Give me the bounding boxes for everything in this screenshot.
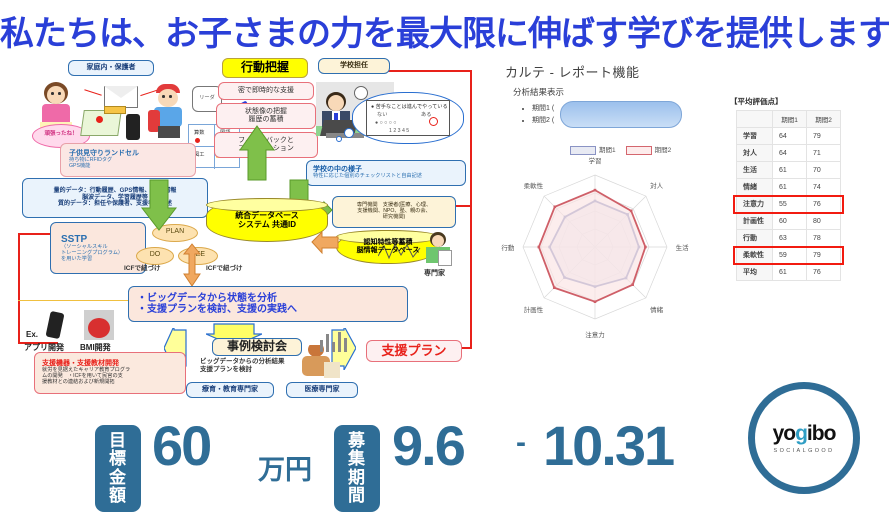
radar-chart: 学習対人生活情緒注意力計画性行動柔軟性: [500, 155, 690, 345]
row-label: 注意力: [737, 196, 773, 213]
radar-axis-label: 注意力: [585, 329, 605, 339]
radar-axis-label: 計画性: [524, 304, 544, 314]
legend-entry-period2: 期間2: [626, 144, 672, 155]
row-period1: 64: [773, 145, 807, 162]
yogibo-logo: yogibo SOCIALGOOD: [748, 382, 860, 494]
row-period2: 76: [807, 196, 841, 213]
row-label: 対人: [737, 145, 773, 162]
row-period1: 59: [773, 247, 807, 264]
table-row: 情緒6174: [737, 179, 841, 196]
table-row: 学習6479: [737, 128, 841, 145]
legend-label-period2: 期間2: [655, 147, 672, 154]
period-end: 10.31: [543, 418, 673, 474]
radar-axis-label: 柔軟性: [524, 180, 544, 190]
radar-axis-label: 対人: [650, 180, 663, 190]
db-center-line2: システム 共通ID: [235, 220, 299, 229]
specialist-illustration: [424, 232, 452, 270]
radar-axis-label: 行動: [501, 242, 514, 252]
icf-label-left: ICFで紐づけ: [124, 262, 160, 272]
row-period2: 78: [807, 230, 841, 247]
db-center-line1: 統合データベース: [235, 211, 299, 220]
table-header-blank: [737, 111, 773, 128]
db-brain-line2: 脳情報データベース: [357, 247, 420, 255]
support-plan-box: 支援プラン: [366, 340, 462, 362]
rfid-tag-icon: [104, 106, 126, 114]
legend-entry-period1: 期間1: [570, 144, 616, 155]
slide-canvas: 私たちは、お子さまの力を最大限に伸ばす学びを提供します！ 家庭内・保護者 頑張っ…: [0, 0, 889, 500]
case-meeting-line2: 支援プランを検討: [200, 366, 285, 374]
table-row: 注意力5576: [737, 196, 841, 213]
row-period2: 79: [807, 128, 841, 145]
row-period1: 64: [773, 128, 807, 145]
page-title: 私たちは、お子さまの力を最大限に伸ばす学びを提供します！: [0, 6, 889, 55]
table-header-row: 期間1 期間2: [737, 111, 841, 128]
home-guardian-label: 家庭内・保護者: [68, 60, 154, 76]
row-label: 学習: [737, 128, 773, 145]
goal-amount-value: 60: [152, 418, 210, 474]
bigdata-line2: ・支援プランを検討、支援の実践へ: [137, 304, 297, 315]
period-dash: -: [516, 426, 526, 460]
green-arrow-up: [238, 120, 288, 190]
row-period1: 55: [773, 196, 807, 213]
row-period2: 74: [807, 179, 841, 196]
period-start: 9.6: [392, 418, 464, 474]
legend-label-period1: 期間1: [599, 147, 616, 154]
app-phone-icon: [45, 311, 64, 339]
chart-legend: 期間1 期間2: [570, 144, 671, 155]
table-row: 生活6170: [737, 162, 841, 179]
case-meeting-detail: ビッグデータからの分析結果 支援プランを検討: [200, 358, 285, 375]
row-label: 行動: [737, 230, 773, 247]
specialist-education-chip: 療育・教育専門家: [186, 382, 274, 398]
bigdata-line1: ・ビッグデータから状態を分析: [137, 293, 277, 304]
smartphone-icon: [126, 114, 140, 140]
ex-label: Ex.: [26, 330, 38, 339]
map-pin: [96, 116, 103, 123]
row-label: 柔軟性: [737, 247, 773, 264]
report-bullet-1: 期間2 (: [532, 115, 554, 125]
row-period2: 76: [807, 264, 841, 281]
logo-tagline: SOCIALGOOD: [774, 448, 835, 454]
report-link-line-vertical: [470, 70, 472, 348]
feedback-loop-line-vertical: [18, 233, 20, 343]
dev-box-line3: 援教材との連結および新規開拓: [42, 380, 115, 386]
table-row: 行動6378: [737, 230, 841, 247]
thought-bubble-small-1: [344, 128, 354, 138]
goal-amount-unit: 万円: [258, 448, 312, 487]
case-meeting-title: 事例検討会: [212, 338, 302, 356]
bmi-cap-icon: [88, 318, 110, 338]
pdca-do-label: DO: [136, 251, 174, 258]
scores-table: 期間1 期間2 学習6479対人6471生活6170情緒6174注意力5576計…: [736, 110, 841, 281]
report-subtitle: 分析結果表示: [513, 86, 564, 98]
row-period2: 80: [807, 213, 841, 230]
bar-chart-icon: [318, 330, 358, 352]
report-bullet-list: 期間1 ( 期間2 (: [524, 103, 554, 127]
behavior-item-0: 密で即時的な支援: [218, 82, 314, 100]
checklist-panel: ● 苦手なことは進んでやっている ない ある ● ○ ○ ○ ○ 1 2 3 4…: [366, 100, 450, 136]
db-brain-line1: 認知特性等蓄積: [357, 239, 420, 247]
bigdata-analysis-box: ・ビッグデータから状態を分析 ・支援プランを検討、支援の実践へ: [128, 286, 408, 322]
sstp-line3: を用いた学習: [61, 257, 92, 263]
period-chip: 募集 期間: [334, 425, 380, 512]
table-header-period1: 期間1: [773, 111, 807, 128]
legend-swatch-period2: [626, 146, 652, 155]
table-row: 平均6176: [737, 264, 841, 281]
thought-bubble-small-2: [336, 136, 342, 142]
specialist-medical-chip: 医療専門家: [286, 382, 358, 398]
row-period1: 61: [773, 264, 807, 281]
report-bullet-0: 期間1 (: [532, 103, 554, 113]
row-period1: 63: [773, 230, 807, 247]
envelope-flap: [104, 86, 138, 108]
boy-illustration: [148, 84, 190, 142]
goal-amount-chip: 目標 金額: [95, 425, 141, 512]
radar-axis-label: 学習: [589, 155, 602, 165]
logo-wordmark: yogibo: [773, 422, 836, 446]
radar-axis-label: 生活: [676, 242, 689, 252]
orange-arrow-db: [310, 228, 344, 254]
mail-arrow-left: [84, 89, 101, 96]
row-period1: 61: [773, 162, 807, 179]
row-label: 計画性: [737, 213, 773, 230]
icf-label-right: ICFで紐づけ: [206, 262, 242, 272]
row-period2: 71: [807, 145, 841, 162]
satchel-info-box: 子供見守りランドセル 持ち物にRFIDタグ GPS機能: [60, 143, 196, 177]
table-header-period2: 期間2: [807, 111, 841, 128]
table-caption: 【平均評価点】: [730, 96, 783, 107]
table-row: 計画性6080: [737, 213, 841, 230]
expert-org-line3: 研究機関): [383, 215, 405, 221]
redaction-overlay: [560, 101, 682, 128]
table-row: 対人6471: [737, 145, 841, 162]
legend-swatch-period1: [570, 146, 596, 155]
table-row: 柔軟性5979: [737, 247, 841, 264]
row-period2: 70: [807, 162, 841, 179]
row-label: 情緒: [737, 179, 773, 196]
behavior-title: 行動把握: [222, 58, 308, 78]
satchel-line2: GPS機能: [69, 164, 90, 170]
row-period1: 60: [773, 213, 807, 230]
row-period2: 79: [807, 247, 841, 264]
row-label: 平均: [737, 264, 773, 281]
row-period1: 61: [773, 179, 807, 196]
school-teacher-label: 学校担任: [318, 58, 390, 74]
specialist-label: 専門家: [424, 268, 445, 278]
device-development-box: 支援機器・支援教材開発 就労を見据えたキャリア教育プログラ ムの開発 ・ICFを…: [34, 352, 186, 394]
row-label: 生活: [737, 162, 773, 179]
orange-arrow-vertical: [182, 244, 206, 288]
radar-axis-label: 情緒: [650, 304, 663, 314]
report-title: カルテ - レポート機能: [505, 62, 640, 81]
wall-clock-icon: [354, 86, 368, 100]
